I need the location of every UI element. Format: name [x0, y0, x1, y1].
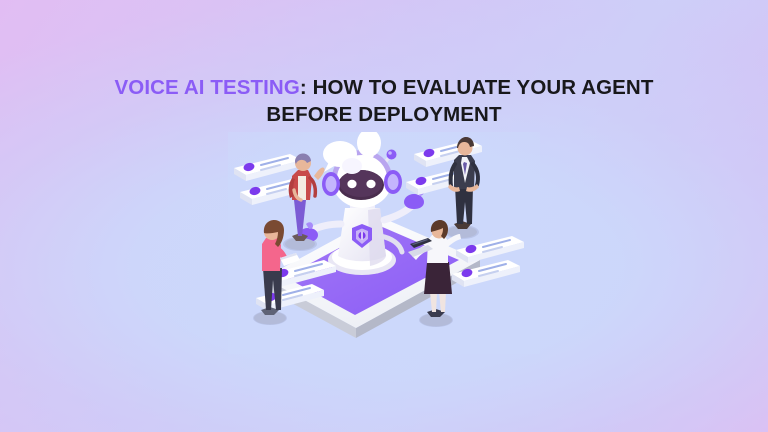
speech-bubble-3 — [342, 158, 362, 174]
page-title: VOICE AI TESTING: HOW TO EVALUATE YOUR A… — [0, 74, 768, 128]
title-line-2: BEFORE DEPLOYMENT — [60, 101, 708, 128]
title-line-1: VOICE AI TESTING: HOW TO EVALUATE YOUR A… — [60, 74, 708, 101]
screenshot-canvas: VOICE AI TESTING: HOW TO EVALUATE YOUR A… — [0, 0, 768, 432]
robot-eye-left — [347, 180, 356, 188]
title-rest-text: : HOW TO EVALUATE YOUR AGENT — [300, 76, 654, 99]
robot-eye-right — [366, 180, 375, 188]
hero-illustration — [228, 132, 540, 354]
title-accent-text: VOICE AI TESTING — [115, 76, 300, 99]
